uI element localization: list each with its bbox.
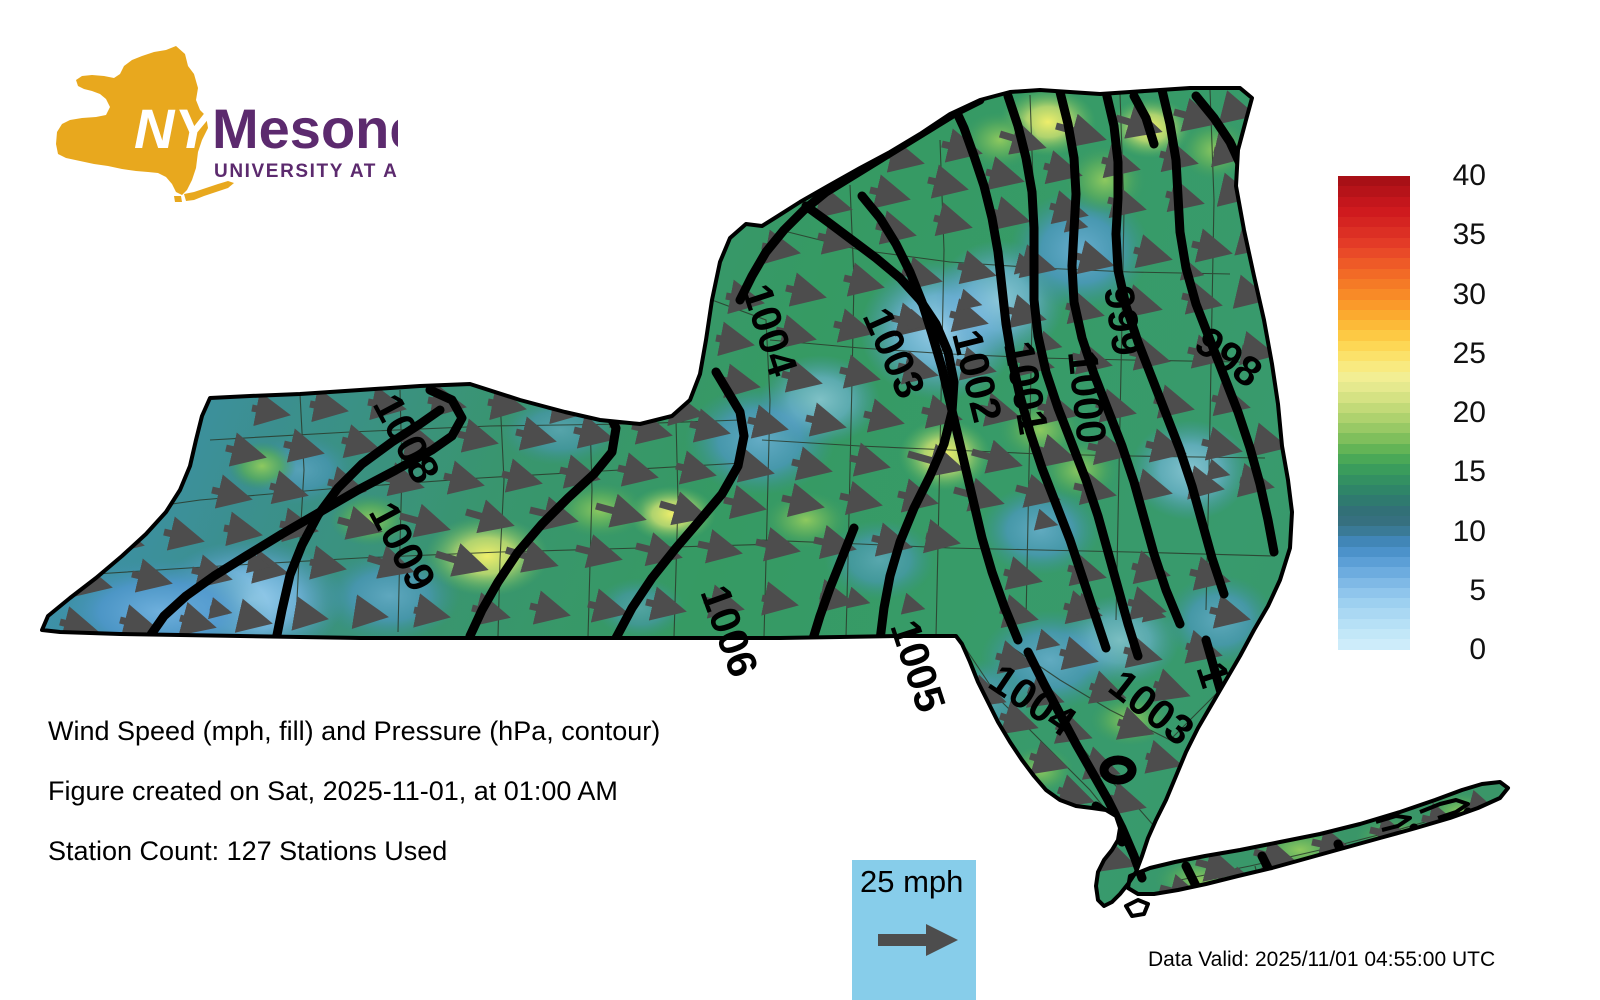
colorbar-segment [1338,557,1410,567]
contour-ring-small [1104,760,1132,780]
contour-line-1008 [470,396,616,636]
caption-title: Wind Speed (mph, fill) and Pressure (hPa… [48,716,848,746]
contour-label-1004-north: 1004 [733,278,807,382]
contour-label-1000: 1000 [1059,348,1116,446]
contour-label-1001: 1001 [995,337,1058,437]
contour-label-1006: 1006 [692,579,768,683]
contour-label-1004-south: 1004 [981,654,1085,746]
contour-li-5 [1468,812,1476,828]
colorbar-segment [1338,289,1410,299]
colorbar-tick-15: 15 [1422,457,1486,487]
contour-line-1004-mid [812,528,854,642]
colorbar-segment [1338,330,1410,340]
wind-key-arrow-icon [876,920,960,960]
colorbar-tick-labels: 4035302520151050 [1422,154,1572,674]
colorbar-tick-20: 20 [1422,398,1486,428]
contour-line-1006 [616,372,744,638]
contour-li-3 [1338,844,1352,876]
colorbar-segment [1338,506,1410,516]
colorbar-segment [1338,269,1410,279]
colorbar-segment [1338,258,1410,268]
figure-caption: Wind Speed (mph, fill) and Pressure (hPa… [48,716,848,896]
contour-label-998: 998 [1187,317,1271,396]
colorbar-segment [1338,197,1410,207]
colorbar-segment [1338,423,1410,433]
contour-label-1008: 1008 [364,386,449,491]
colorbar-segment [1338,475,1410,485]
colorbar-segment [1338,310,1410,320]
logo-svg: NYS Mesonet UNIVERSITY AT ALBANY [48,44,398,204]
colorbar-segment [1338,629,1410,639]
colorbar-segment [1338,567,1410,577]
colorbar-segment [1338,588,1410,598]
colorbar-segment [1338,382,1410,392]
colorbar-segment [1338,372,1410,382]
colorbar-segment [1338,413,1410,423]
caption-created: Figure created on Sat, 2025-11-01, at 01… [48,776,848,806]
contour-line-1002 [952,102,1106,648]
contour-line-998 [1162,90,1274,552]
contour-label-layer: 1008 1009 1006 1005 1004 1003 1002 1001 … [360,278,1271,754]
contour-label-1002: 1002 [943,325,1011,427]
colorbar-segment [1338,248,1410,258]
colorbar-segment [1338,444,1410,454]
contour-li-1 [1186,866,1204,900]
colorbar-segment [1338,217,1410,227]
contour-label-edge-1: 1 [1187,656,1239,693]
colorbar-segment [1338,176,1410,186]
contour-line-999b [1134,96,1154,144]
contour-line-999 [1106,92,1224,594]
caption-station-count: Station Count: 127 Stations Used [48,836,848,866]
colorbar-segment [1338,495,1410,505]
contour-li-2 [1262,856,1278,890]
colorbar-segment [1338,238,1410,248]
colorbar-segment [1338,547,1410,557]
colorbar-segment [1338,578,1410,588]
colorbar-segment [1338,464,1410,474]
colorbar-segment [1338,207,1410,217]
colorbar-segment [1338,619,1410,629]
colorbar-tick-10: 10 [1422,517,1486,547]
contour-line-1001 [1008,96,1138,656]
contour-line-1005 [806,206,954,640]
colorbar-segment [1338,526,1410,536]
contour-line-1003-south [1028,652,1142,878]
colorbar-segment [1338,608,1410,618]
contour-line-1008-west [150,390,462,636]
colorbar-segment [1338,351,1410,361]
colorbar-segment [1338,485,1410,495]
colorbar-tick-5: 5 [1422,576,1486,606]
contour-li-4 [1414,828,1428,858]
wind-vector-key: 25 mph [852,860,976,1000]
contour-line-edge-1 [1206,640,1228,720]
colorbar-segment [1338,279,1410,289]
colorbar-tick-40: 40 [1422,161,1486,191]
logo-mesonet-text: Mesonet [212,97,398,160]
colorbar-gradient [1338,176,1410,650]
colorbar-segment [1338,320,1410,330]
colorbar-segment [1338,341,1410,351]
logo-subtitle-text: UNIVERSITY AT ALBANY [214,161,398,182]
colorbar-segment [1338,639,1410,649]
colorbar-segment [1338,392,1410,402]
contour-label-999: 999 [1095,283,1151,359]
contour-line-1000 [1060,92,1180,624]
colorbar-tick-30: 30 [1422,280,1486,310]
colorbar-segment [1338,227,1410,237]
data-valid-text: Data Valid: 2025/11/01 04:55:00 UTC [1148,948,1495,972]
contour-label-1003-north: 1003 [854,301,935,405]
contour-line-1009 [276,410,440,640]
colorbar-segment [1338,598,1410,608]
wind-key-label: 25 mph [860,864,963,900]
windspeed-colorbar: 4035302520151050 [1338,176,1578,656]
contour-label-1005: 1005 [881,614,955,717]
colorbar-tick-0: 0 [1422,635,1486,665]
colorbar-segment [1338,516,1410,526]
nys-mesonet-logo: NYS Mesonet UNIVERSITY AT ALBANY [48,44,398,204]
colorbar-segment [1338,186,1410,196]
contour-line-1004-south [960,654,1034,884]
colorbar-tick-25: 25 [1422,339,1486,369]
contour-line-998b [1196,96,1250,196]
colorbar-segment [1338,433,1410,443]
colorbar-segment [1338,403,1410,413]
contour-line-1004-north [740,100,980,300]
contour-label-1003-south: 1003 [1100,660,1203,755]
colorbar-segment [1338,300,1410,310]
contour-nyc [1096,806,1122,842]
colorbar-segment [1338,454,1410,464]
colorbar-segment [1338,536,1410,546]
contour-line-1003-north [862,196,1018,640]
colorbar-segment [1338,361,1410,371]
colorbar-tick-35: 35 [1422,220,1486,250]
contour-label-1009: 1009 [360,494,445,599]
